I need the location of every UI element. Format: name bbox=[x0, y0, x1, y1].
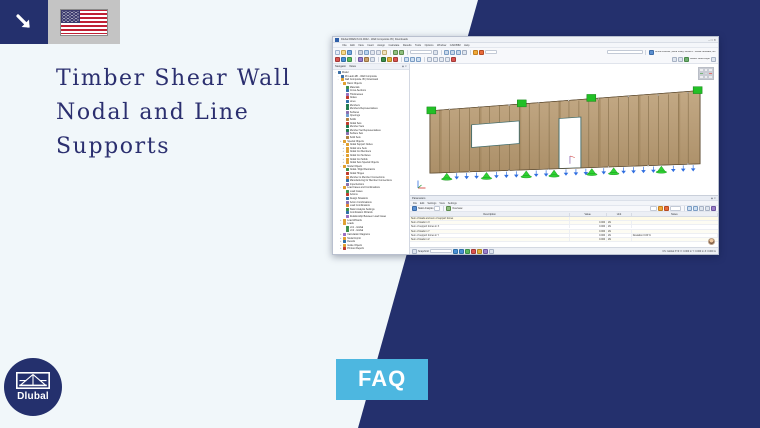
table-cell-value: 0.000 bbox=[570, 221, 607, 224]
tree-item-icon bbox=[346, 125, 349, 128]
col-value: Value bbox=[570, 213, 607, 216]
dock-export-icon[interactable] bbox=[693, 206, 698, 211]
tree-item-label: Load Cases and Combinations bbox=[347, 186, 380, 189]
tree-item-label: Nodal Cut Members bbox=[350, 150, 371, 153]
tree-expander-icon[interactable]: + bbox=[342, 161, 345, 164]
table-cell-unit: kN bbox=[607, 230, 632, 233]
table-cell-unit: kN bbox=[607, 238, 632, 241]
menu-item-edit[interactable]: Edit bbox=[350, 44, 354, 47]
tree-item-label: LC1 - Global bbox=[350, 226, 363, 229]
tool-solid-icon[interactable] bbox=[364, 57, 369, 62]
tree-item-label: Surface Sets bbox=[350, 132, 364, 135]
tree-expander-icon[interactable]: + bbox=[339, 233, 342, 236]
menu-item-options[interactable]: Options bbox=[425, 44, 434, 47]
dock-print-icon[interactable] bbox=[699, 206, 704, 211]
col-unit: Unit bbox=[607, 213, 632, 216]
status-bar[interactable]: Snap/Grid CS: Global XYZ X: 0.000 m Y: 0… bbox=[410, 247, 718, 254]
bridge-frame-icon bbox=[16, 372, 50, 389]
tree-item-icon bbox=[346, 168, 349, 171]
tree-item-icon bbox=[346, 226, 349, 229]
tree-item-label: Wall Composite.rf6 | Downloads bbox=[345, 78, 379, 81]
tree-item-icon bbox=[341, 75, 344, 78]
corner-badges bbox=[0, 0, 120, 44]
tree-item-icon bbox=[346, 147, 349, 150]
table-cell-value: 0.000 bbox=[570, 225, 607, 228]
tree-item-label: Imperfections bbox=[350, 183, 364, 186]
tree-item-label: Solid Sets bbox=[350, 136, 361, 139]
tool-legend-icon[interactable] bbox=[479, 50, 484, 55]
tree-expander-icon[interactable]: + bbox=[342, 143, 345, 146]
tree-item-icon bbox=[343, 240, 346, 243]
table-cell-desc: Sum of loads in Z bbox=[410, 238, 570, 241]
tree-item-icon bbox=[346, 122, 349, 125]
status-tool-1-icon[interactable] bbox=[453, 249, 458, 254]
dock-results-icon[interactable] bbox=[658, 206, 663, 211]
tree-item-label: Special Objects bbox=[347, 140, 364, 143]
status-tool-3-icon[interactable] bbox=[465, 249, 470, 254]
dock-scale-input[interactable] bbox=[670, 206, 681, 211]
table-cell-unit: kN bbox=[607, 225, 632, 228]
tree-item-label: Nodal Support Nodes bbox=[350, 143, 373, 146]
tree-item-label: Surfaces bbox=[350, 111, 359, 114]
tool-surface-icon[interactable] bbox=[358, 57, 363, 62]
view-layer-label: Default Views Layer bbox=[690, 58, 710, 60]
tree-item-label: Lines bbox=[350, 100, 356, 103]
view-cube[interactable] bbox=[698, 67, 714, 80]
dock-value-input[interactable] bbox=[650, 206, 657, 211]
tool-hinge-icon[interactable] bbox=[387, 57, 392, 62]
app-logo-icon bbox=[335, 38, 339, 42]
tree-item-icon bbox=[346, 190, 349, 193]
dock-close-icon[interactable]: ◉ ✕ bbox=[711, 197, 716, 200]
tool-paste-icon[interactable] bbox=[382, 50, 387, 55]
dock-filter-icon[interactable] bbox=[705, 206, 710, 211]
dock-menu-file[interactable]: File bbox=[413, 202, 417, 205]
tool-view-top-icon[interactable] bbox=[672, 57, 677, 62]
table-cell-desc: Sum of support forces in X bbox=[410, 225, 570, 228]
tree-item-label: LC2 - Global bbox=[350, 229, 363, 232]
tool-load-icon[interactable] bbox=[393, 57, 398, 62]
tree-item-icon bbox=[346, 129, 349, 132]
window-controls[interactable]: − □ ✕ bbox=[708, 38, 716, 42]
menu-item-cadbim[interactable]: CAD/BIM bbox=[450, 44, 461, 47]
arrow-down-right-icon bbox=[0, 0, 48, 44]
dock-menu-selection[interactable]: Settings bbox=[427, 202, 436, 205]
tree-item-icon bbox=[338, 71, 341, 74]
app-title: Dlubal RFEM 6.01.0042 - Wall Composite.r… bbox=[341, 38, 408, 41]
dock-combo-label: Overview bbox=[452, 207, 462, 210]
table-cell-value: 0.000 bbox=[570, 234, 607, 237]
table-cell-desc: Sum of support forces in Y bbox=[410, 234, 570, 237]
dock-menu-view[interactable]: View bbox=[439, 202, 444, 205]
tree-item-icon bbox=[346, 197, 349, 200]
chevron-down-view-icon[interactable] bbox=[711, 57, 716, 62]
model-viewport[interactable] bbox=[410, 64, 718, 195]
navigator-panel[interactable]: Navigator Views ◉ ✕ -Model-RF-Laub-MF - … bbox=[333, 64, 410, 254]
tree-item-label: Actions bbox=[350, 193, 358, 196]
menu-item-assign[interactable]: Assign bbox=[377, 44, 385, 47]
tree-expander-icon[interactable]: + bbox=[339, 244, 342, 247]
tree-item-label: Calculation Diagrams bbox=[347, 233, 370, 236]
tree-item-label: Printout Reports bbox=[347, 247, 364, 250]
tool-zoom-fit-icon[interactable] bbox=[410, 57, 415, 62]
us-flag-icon bbox=[60, 9, 108, 36]
tree-item-icon bbox=[346, 111, 349, 114]
user-avatar[interactable] bbox=[708, 238, 715, 245]
tool-zoom-in-icon[interactable] bbox=[404, 57, 409, 62]
table-cell-desc: Sum of loads and sum of support forces bbox=[410, 217, 570, 220]
tool-save-icon[interactable] bbox=[347, 50, 352, 55]
tab-views[interactable]: Views bbox=[349, 65, 356, 68]
dock-filter-select[interactable] bbox=[434, 206, 440, 211]
tree-item-label: Materials bbox=[350, 86, 360, 89]
tree-item-icon bbox=[346, 104, 349, 107]
app-body: Navigator Views ◉ ✕ -Model-RF-Laub-MF - … bbox=[333, 64, 718, 254]
dock-zoom-icon[interactable] bbox=[687, 206, 692, 211]
tool-member-icon[interactable] bbox=[347, 57, 352, 62]
table-body[interactable]: Sum of loads and sum of support forcesSu… bbox=[410, 217, 718, 242]
tree-item-label: Nodal Hinges bbox=[350, 172, 364, 175]
tree-item-icon bbox=[346, 204, 349, 207]
toolbar-area[interactable]: Online License | Lena Volley 12/2021 · D… bbox=[333, 48, 718, 64]
status-input[interactable] bbox=[430, 249, 452, 254]
tool-wire-icon[interactable] bbox=[450, 50, 455, 55]
dock-filter-label: Static Analysis bbox=[418, 207, 433, 210]
tree-item-label: Member to Member Connections bbox=[350, 176, 385, 179]
results-dock[interactable]: Parameters ◉ ✕ File Edit Settings View S… bbox=[410, 195, 718, 247]
tool-open-icon[interactable] bbox=[341, 50, 346, 55]
tree-item-icon bbox=[343, 165, 346, 168]
tree-expander-icon[interactable]: - bbox=[337, 75, 340, 78]
table-cell-value: 0.000 bbox=[570, 238, 607, 241]
tree-expander-icon[interactable]: + bbox=[339, 219, 342, 222]
tree-expander-icon[interactable]: - bbox=[339, 222, 342, 225]
menu-item-help[interactable]: Help bbox=[464, 44, 469, 47]
tree-item-label: Action Combinations bbox=[350, 201, 372, 204]
tree-expander-icon[interactable]: + bbox=[339, 247, 342, 250]
faq-badge: FAQ bbox=[336, 359, 428, 400]
tree-item-icon bbox=[346, 100, 349, 103]
tree-item-icon bbox=[343, 247, 346, 250]
tool-redo-icon[interactable] bbox=[399, 50, 404, 55]
tree-item-label: Model Objects bbox=[347, 165, 362, 168]
tree-expander-icon[interactable]: + bbox=[339, 140, 342, 143]
table-cell-unit: kN bbox=[607, 234, 632, 237]
account-icon[interactable] bbox=[649, 50, 654, 55]
menu-item-insert[interactable]: Insert bbox=[367, 44, 374, 47]
tab-navigator[interactable]: Navigator bbox=[335, 65, 346, 68]
tree-item-icon bbox=[343, 186, 346, 189]
tree-expander-icon[interactable]: - bbox=[339, 165, 342, 168]
status-tool-2-icon[interactable] bbox=[459, 249, 464, 254]
tree-item-label: Solids bbox=[350, 118, 357, 121]
toolbar-row-2[interactable]: Default Views Layer bbox=[335, 56, 716, 62]
tool-delete-icon[interactable] bbox=[451, 57, 456, 62]
tree-item-icon bbox=[346, 183, 349, 186]
tree-item-icon bbox=[343, 222, 346, 225]
results-table[interactable]: Description Value Unit Notes Sum of load… bbox=[410, 212, 718, 247]
tree-item-icon bbox=[343, 82, 346, 85]
tree-item-icon bbox=[343, 237, 346, 240]
tree-item-label: Basic Objects bbox=[347, 82, 362, 85]
status-tool-7-icon[interactable] bbox=[489, 249, 494, 254]
menu-item-file[interactable]: File bbox=[343, 44, 347, 47]
tree-item-icon bbox=[346, 93, 349, 96]
tool-preview-icon[interactable] bbox=[364, 50, 369, 55]
status-coordinates: X: 0.000 m Y: 0.000 m Z: 0.000 m bbox=[680, 250, 716, 253]
status-mode: CS: Global XYZ bbox=[662, 250, 679, 253]
tree-item-label: Nodal / Rigid Restraints bbox=[350, 168, 375, 171]
table-cell-desc: Sum of loads in Y bbox=[410, 230, 570, 233]
page-title: Timber Shear Wall Nodal and Line Support… bbox=[56, 62, 326, 164]
tree-item-icon bbox=[346, 161, 349, 164]
tree-item-label: Design Situations bbox=[350, 197, 369, 200]
tree-item-icon bbox=[343, 244, 346, 247]
tree-item-label: Nodal Line Sets bbox=[350, 147, 367, 150]
col-notes: Notes bbox=[632, 213, 718, 216]
tree-item-label: Load Combinations bbox=[350, 204, 371, 207]
tree-item-label: Cross-Sections bbox=[350, 89, 366, 92]
tree-item-label: RF-Laub-MF - Wall Composite bbox=[345, 75, 377, 78]
dlubal-logo: Dlubal bbox=[4, 358, 62, 416]
tree-item-icon bbox=[346, 136, 349, 139]
dock-menu-settings[interactable]: Settings bbox=[448, 202, 457, 205]
tree-item-icon bbox=[346, 143, 349, 146]
tree-item-icon bbox=[346, 132, 349, 135]
tree-item-label: Results bbox=[347, 240, 355, 243]
navigator-tree[interactable]: -Model-RF-Laub-MF - Wall Composite-Wall … bbox=[333, 70, 409, 254]
tree-item-label: Nodal Cut Surfaces bbox=[350, 154, 371, 157]
col-description: Description bbox=[410, 213, 570, 216]
dock-legend-icon[interactable] bbox=[664, 206, 669, 211]
tree-expander-icon[interactable]: - bbox=[339, 186, 342, 189]
status-snap-icon[interactable] bbox=[412, 249, 417, 254]
dock-menu-edit[interactable]: Edit bbox=[420, 202, 424, 205]
tool-ortho-icon[interactable] bbox=[433, 57, 438, 62]
chevron-down-icon[interactable] bbox=[433, 50, 438, 55]
menu-item-window[interactable]: Window bbox=[437, 44, 446, 47]
tree-item-label: Nodal Sets Special Objects bbox=[350, 161, 379, 164]
tool-measure-icon[interactable] bbox=[439, 57, 444, 62]
tool-view-front-icon[interactable] bbox=[678, 57, 683, 62]
tree-expander-icon[interactable]: - bbox=[334, 71, 337, 74]
timber-shear-wall-model[interactable] bbox=[410, 64, 718, 195]
tool-line-icon[interactable] bbox=[341, 57, 346, 62]
status-left-label: Snap/Grid bbox=[418, 250, 429, 253]
tree-item-label: Nodal Cut Solids bbox=[350, 158, 368, 161]
tree-item-label: Thicknesses bbox=[350, 93, 363, 96]
tree-item-label: Nodes bbox=[350, 96, 357, 99]
menu-item-calculate[interactable]: Calculate bbox=[389, 44, 400, 47]
tree-item-icon bbox=[346, 215, 349, 218]
tree-item-icon bbox=[346, 211, 349, 214]
tool-results-icon[interactable] bbox=[473, 50, 478, 55]
tool-print-icon[interactable] bbox=[358, 50, 363, 55]
tree-item-icon bbox=[346, 154, 349, 157]
tree-item-label: Member Sets bbox=[350, 125, 364, 128]
rfem-application-screenshot: Dlubal RFEM 6.01.0042 - Wall Composite.r… bbox=[332, 36, 719, 255]
brand-name: Dlubal bbox=[17, 391, 49, 402]
menu-item-results[interactable]: Results bbox=[403, 44, 412, 47]
tree-item-icon bbox=[346, 150, 349, 153]
tool-cut-icon[interactable] bbox=[370, 50, 375, 55]
navigator-tree-item[interactable]: +Printout Reports bbox=[334, 247, 409, 251]
dock-settings-icon[interactable] bbox=[711, 206, 716, 211]
status-tool-6-icon[interactable] bbox=[483, 249, 488, 254]
tree-item-label: Loads bbox=[347, 222, 354, 225]
account-label: Online License | Lena Volley 12/2021 · D… bbox=[655, 51, 716, 53]
tree-expander-icon[interactable]: + bbox=[339, 237, 342, 240]
tree-item-icon bbox=[346, 179, 349, 182]
tool-section-icon[interactable] bbox=[445, 57, 450, 62]
tree-item-icon bbox=[346, 118, 349, 121]
tree-item-icon bbox=[346, 201, 349, 204]
tree-expander-icon[interactable]: + bbox=[339, 240, 342, 243]
tool-undo-icon[interactable] bbox=[393, 50, 398, 55]
tree-item-icon bbox=[343, 233, 346, 236]
tree-expander-icon[interactable]: + bbox=[342, 147, 345, 150]
tree-item-label: Manufacturing for Member Connections bbox=[350, 179, 392, 182]
tree-item-label: Combination Wizards bbox=[350, 211, 373, 214]
dock-overview-icon[interactable] bbox=[446, 206, 451, 211]
window-opening bbox=[472, 121, 520, 148]
table-cell-note: Deviation 0.00 % bbox=[632, 234, 718, 237]
tool-rotate-icon[interactable] bbox=[416, 57, 421, 62]
tree-item-label: Member Set Representatives bbox=[350, 129, 381, 132]
keyword-search-input[interactable] bbox=[607, 50, 643, 55]
tree-item-label: Model bbox=[342, 71, 349, 74]
tool-support-icon[interactable] bbox=[381, 57, 386, 62]
tree-expander-icon[interactable]: - bbox=[337, 78, 340, 81]
tree-item-icon bbox=[346, 176, 349, 179]
tree-item-icon bbox=[346, 89, 349, 92]
tree-item-icon bbox=[343, 140, 346, 143]
tool-grid-icon[interactable] bbox=[462, 50, 467, 55]
tree-item-label: Members Representatives bbox=[350, 107, 378, 110]
scale-input[interactable] bbox=[485, 50, 497, 55]
tree-item-icon bbox=[346, 158, 349, 161]
table-cell-unit: kN bbox=[607, 221, 632, 224]
tree-item-label: Nodal Sets bbox=[350, 122, 362, 125]
table-cell-desc: Sum of loads in X bbox=[410, 221, 570, 224]
dock-title: Parameters bbox=[412, 197, 425, 200]
tree-item-icon bbox=[346, 172, 349, 175]
tool-node-icon[interactable] bbox=[335, 57, 340, 62]
tree-expander-icon[interactable]: + bbox=[342, 154, 345, 157]
tree-item-icon bbox=[346, 107, 349, 110]
tree-item-icon bbox=[346, 208, 349, 211]
tree-expander-icon[interactable]: + bbox=[342, 158, 345, 161]
status-tool-5-icon[interactable] bbox=[477, 249, 482, 254]
tree-item-icon bbox=[346, 96, 349, 99]
toolbar-row-1[interactable]: Online License | Lena Volley 12/2021 · D… bbox=[335, 49, 716, 55]
tree-expander-icon[interactable]: - bbox=[339, 82, 342, 85]
tree-item-label: Load Cases bbox=[350, 190, 363, 193]
panel-pin-icon[interactable]: ◉ ✕ bbox=[402, 65, 407, 68]
status-tool-4-icon[interactable] bbox=[471, 249, 476, 254]
global-axis-triad bbox=[416, 178, 428, 190]
wall-panel bbox=[430, 91, 700, 174]
table-row[interactable]: Sum of loads in Z0.000kN bbox=[410, 238, 718, 242]
tool-view-iso-icon[interactable] bbox=[684, 57, 689, 62]
language-flag-button[interactable] bbox=[48, 0, 120, 44]
menu-app-icon bbox=[336, 44, 339, 47]
model-view-area: Parameters ◉ ✕ File Edit Settings View S… bbox=[410, 64, 718, 254]
tree-item-label: Static Analysis Settings bbox=[350, 208, 375, 211]
slide-canvas: Timber Shear Wall Nodal and Line Support… bbox=[0, 0, 760, 428]
tree-item-icon bbox=[346, 86, 349, 89]
tree-item-icon bbox=[346, 229, 349, 232]
tool-render-icon[interactable] bbox=[444, 50, 449, 55]
tool-shade-icon[interactable] bbox=[456, 50, 461, 55]
tree-item-icon bbox=[346, 114, 349, 117]
tree-expander-icon[interactable]: + bbox=[342, 150, 345, 153]
dock-analysis-icon[interactable] bbox=[412, 206, 417, 211]
tool-opening-icon[interactable] bbox=[370, 57, 375, 62]
tree-item-label: Openings bbox=[350, 114, 360, 117]
tree-item-label: Nodal Imprint bbox=[347, 237, 361, 240]
tool-new-icon[interactable] bbox=[335, 50, 340, 55]
tool-snap-icon[interactable] bbox=[427, 57, 432, 62]
table-cell-value: 0.000 bbox=[570, 230, 607, 233]
tree-item-label: Guide Objects bbox=[347, 244, 362, 247]
tree-item-icon bbox=[343, 219, 346, 222]
menu-item-view[interactable]: View bbox=[358, 44, 364, 47]
menu-item-tools[interactable]: Tools bbox=[415, 44, 421, 47]
tool-copy-icon[interactable] bbox=[376, 50, 381, 55]
tree-item-label: Relationship Between Load Cases bbox=[350, 215, 387, 218]
load-case-select[interactable] bbox=[410, 50, 432, 55]
tree-item-label: Members bbox=[350, 104, 360, 107]
tree-item-label: Load Wizards bbox=[347, 219, 362, 222]
